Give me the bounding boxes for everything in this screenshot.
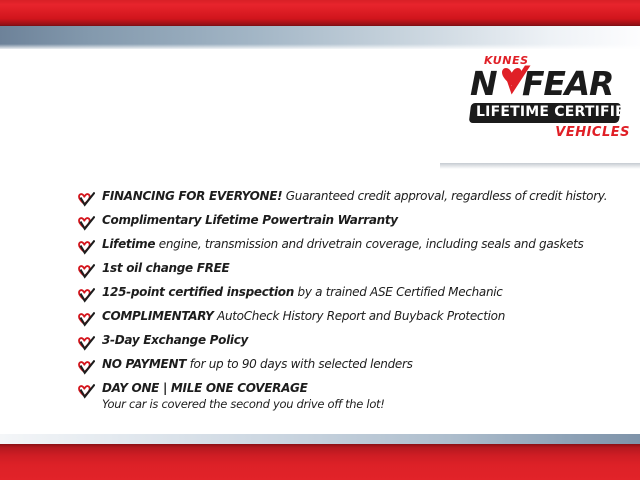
feature-headline: 1st oil change FREE: [102, 261, 229, 275]
feature-headline: DAY ONE | MILE ONE COVERAGE: [102, 381, 308, 395]
heart-check-icon: [78, 312, 95, 327]
feature-detail: AutoCheck History Report and Buyback Pro…: [214, 309, 506, 323]
feature-body: 1st oil change FREE: [102, 262, 229, 275]
logo-nofear-wordmark: N FEAR: [470, 67, 630, 101]
feature-text: NO PAYMENT for up to 90 days with select…: [102, 358, 413, 371]
feature-item: 125-point certified inspection by a trai…: [78, 286, 578, 303]
feature-text: 3-Day Exchange Policy: [102, 334, 248, 347]
feature-headline: 3-Day Exchange Policy: [102, 333, 248, 347]
feature-detail: Guaranteed credit approval, regardless o…: [282, 189, 607, 203]
feature-body: DAY ONE | MILE ONE COVERAGEYour car is c…: [102, 382, 385, 411]
feature-item: Lifetime engine, transmission and drivet…: [78, 238, 578, 255]
features-list: FINANCING FOR EVERYONE! Guaranteed credi…: [78, 190, 578, 418]
logo-word-fear: FEAR: [522, 67, 613, 100]
heart-check-icon: [78, 336, 95, 351]
feature-body: COMPLIMENTARY AutoCheck History Report a…: [102, 310, 505, 323]
feature-body: Complimentary Lifetime Powertrain Warran…: [102, 214, 398, 227]
feature-item: 1st oil change FREE: [78, 262, 578, 279]
feature-body: Lifetime engine, transmission and drivet…: [102, 238, 583, 251]
feature-headline: Lifetime: [102, 237, 155, 251]
feature-detail: engine, transmission and drivetrain cove…: [155, 237, 583, 251]
top-slate-bar: [0, 26, 640, 49]
logo-band-label: LIFETIME CERTIFIED: [476, 105, 614, 120]
feature-text: FINANCING FOR EVERYONE! Guaranteed credi…: [102, 190, 607, 203]
feature-item: FINANCING FOR EVERYONE! Guaranteed credi…: [78, 190, 578, 207]
feature-text: 125-point certified inspection by a trai…: [102, 286, 503, 299]
top-red-bar: [0, 0, 640, 26]
logo-inner: KUNES N FEAR LIFETIME CERTIFIED VEHICLES: [470, 55, 630, 139]
headline-block: Drive off with Peace of Mind: [84, 78, 408, 157]
bottom-red-bar: [0, 444, 640, 480]
feature-headline: COMPLIMENTARY: [102, 309, 214, 323]
feature-item: 3-Day Exchange Policy: [78, 334, 578, 351]
feature-subtext: Your car is covered the second you drive…: [102, 397, 385, 411]
headline-line-2: Peace of Mind: [102, 117, 408, 157]
kunes-no-fear-logo: KUNES N FEAR LIFETIME CERTIFIED VEHICLES: [440, 49, 640, 163]
feature-headline: Complimentary Lifetime Powertrain Warran…: [102, 213, 398, 227]
logo-word-vehicles: VEHICLES: [470, 126, 630, 139]
heart-check-icon: [78, 216, 95, 231]
feature-headline: NO PAYMENT: [102, 357, 186, 371]
feature-item: COMPLIMENTARY AutoCheck History Report a…: [78, 310, 578, 327]
feature-detail: by a trained ASE Certified Mechanic: [294, 285, 503, 299]
feature-body: NO PAYMENT for up to 90 days with select…: [102, 358, 413, 371]
feature-headline: FINANCING FOR EVERYONE!: [102, 189, 282, 203]
feature-text: Lifetime engine, transmission and drivet…: [102, 238, 583, 251]
headline-line-1: Drive off with: [84, 78, 408, 111]
feature-item: DAY ONE | MILE ONE COVERAGEYour car is c…: [78, 382, 578, 411]
feature-item: Complimentary Lifetime Powertrain Warran…: [78, 214, 578, 231]
feature-body: 125-point certified inspection by a trai…: [102, 286, 503, 299]
bottom-slate-bar: [0, 434, 640, 444]
feature-headline: 125-point certified inspection: [102, 285, 294, 299]
heart-check-icon: [78, 240, 95, 255]
feature-body: 3-Day Exchange Policy: [102, 334, 248, 347]
heart-check-icon: [78, 288, 95, 303]
heart-check-icon: [78, 192, 95, 207]
feature-item: NO PAYMENT for up to 90 days with select…: [78, 358, 578, 375]
heart-check-icon: [78, 360, 95, 375]
feature-detail: for up to 90 days with selected lenders: [186, 357, 413, 371]
heart-check-icon: [78, 384, 95, 399]
promo-banner: Drive off with Peace of Mind KUNES N FEA…: [0, 0, 640, 480]
feature-text: DAY ONE | MILE ONE COVERAGE: [102, 382, 385, 395]
feature-text: 1st oil change FREE: [102, 262, 229, 275]
feature-text: COMPLIMENTARY AutoCheck History Report a…: [102, 310, 505, 323]
feature-body: FINANCING FOR EVERYONE! Guaranteed credi…: [102, 190, 607, 203]
feature-text: Complimentary Lifetime Powertrain Warran…: [102, 214, 398, 227]
heart-check-icon: [78, 264, 95, 279]
logo-lifetime-certified-band: LIFETIME CERTIFIED: [469, 103, 621, 123]
